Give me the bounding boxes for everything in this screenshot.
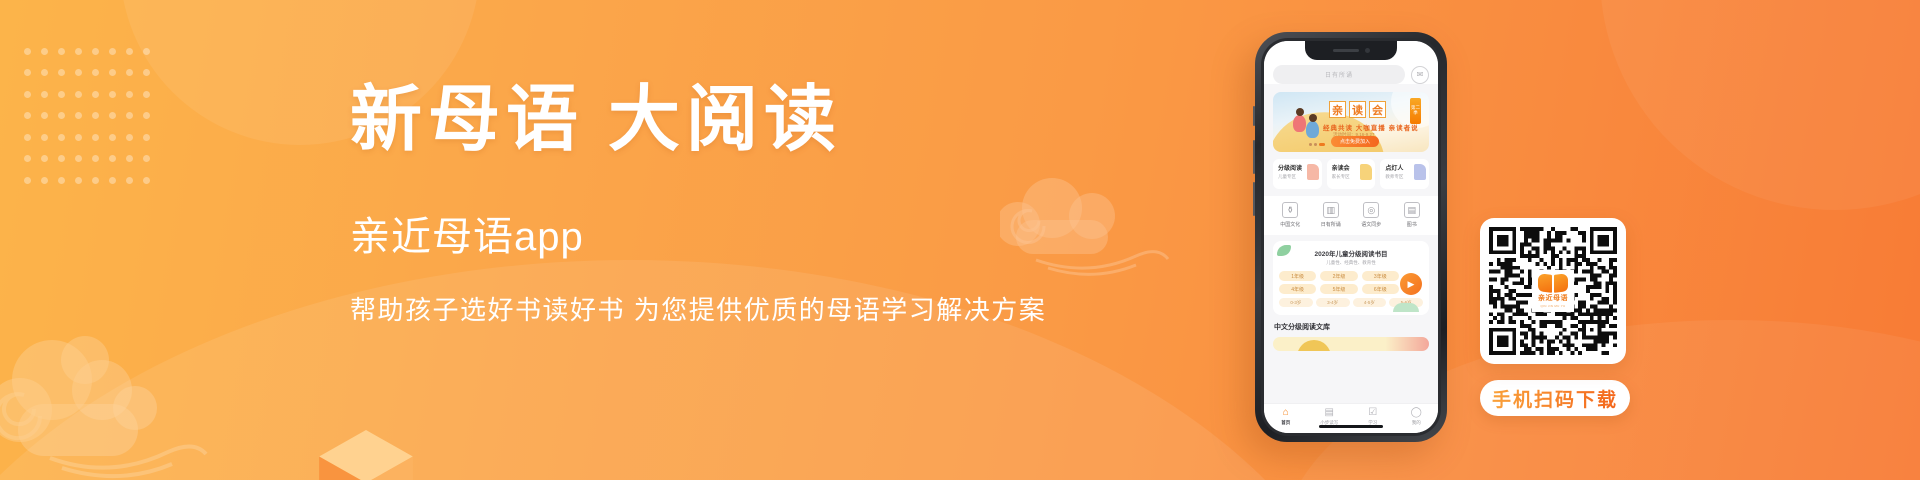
app-category-card[interactable]: 亲读会家长专区 bbox=[1327, 159, 1376, 189]
decor-dot bbox=[75, 155, 82, 162]
play-icon[interactable]: ▶ bbox=[1400, 273, 1422, 295]
decor-cube bbox=[310, 428, 422, 480]
decor-dot bbox=[58, 112, 65, 119]
decor-dot bbox=[126, 69, 133, 76]
phone-screen: 日有所诵 ✉ 亲 读 会 第二季 经典共读 大咖直播 亲读者说 bbox=[1264, 41, 1438, 433]
decor-dot bbox=[24, 155, 31, 162]
decor-dot bbox=[75, 91, 82, 98]
decor-dot bbox=[41, 134, 48, 141]
download-button[interactable]: 手机扫码下载 bbox=[1480, 380, 1630, 416]
decor-dot bbox=[24, 112, 31, 119]
decor-dot bbox=[92, 69, 99, 76]
phone-notch bbox=[1305, 41, 1397, 60]
tagline: 帮助孩子选好书读好书 为您提供优质的母语学习解决方案 bbox=[350, 290, 1070, 327]
decor-dot bbox=[126, 48, 133, 55]
promo-banner: 新母语 大阅读 亲近母语app 帮助孩子选好书读好书 为您提供优质的母语学习解决… bbox=[0, 0, 1920, 480]
quick-icon-glyph: ⚱ bbox=[1282, 202, 1298, 218]
decor-dot bbox=[143, 155, 150, 162]
app-tab-item[interactable]: ◯我的 bbox=[1396, 408, 1436, 426]
download-button-label: 手机扫码下载 bbox=[1492, 385, 1618, 412]
decor-dot bbox=[75, 112, 82, 119]
banner-ribbon: 第二季 bbox=[1410, 98, 1421, 124]
decor-dot bbox=[92, 177, 99, 184]
decor-dot bbox=[109, 91, 116, 98]
phone-speaker bbox=[1333, 49, 1359, 52]
decor-dot bbox=[126, 177, 133, 184]
decor-dot-grid bbox=[24, 48, 160, 198]
decor-dot bbox=[24, 48, 31, 55]
app-library-card[interactable] bbox=[1273, 337, 1429, 351]
decor-dot bbox=[58, 91, 65, 98]
tab-icon: ☑ bbox=[1368, 408, 1377, 418]
app-booklist-card[interactable]: 2020年儿童分级阅读书目 儿童性、经典性、教育性 1年级2年级3年级4年级5年… bbox=[1273, 241, 1429, 315]
banner-title: 亲 读 会 bbox=[1329, 101, 1386, 118]
banner-carousel-dots[interactable] bbox=[1309, 143, 1325, 146]
carousel-dot[interactable] bbox=[1314, 143, 1317, 146]
decor-dot bbox=[92, 48, 99, 55]
grade-chip[interactable]: 5年级 bbox=[1320, 284, 1357, 294]
banner-child-blue bbox=[1306, 121, 1319, 138]
decor-dot bbox=[41, 155, 48, 162]
quick-icon-glyph: ▥ bbox=[1323, 202, 1339, 218]
grade-chip[interactable]: 1年级 bbox=[1279, 271, 1316, 281]
page-title: 新母语 大阅读 bbox=[350, 84, 1070, 156]
age-chip[interactable]: 3-4岁 bbox=[1316, 298, 1350, 307]
quick-icon-glyph: ◎ bbox=[1363, 202, 1379, 218]
quick-icon-glyph: ▤ bbox=[1404, 202, 1420, 218]
decor-dot bbox=[109, 177, 116, 184]
decor-dot bbox=[109, 69, 116, 76]
phone-mute-button bbox=[1253, 106, 1255, 126]
decor-dot bbox=[143, 112, 150, 119]
decor-dot bbox=[143, 69, 150, 76]
phone-volume-down-button bbox=[1253, 182, 1255, 216]
age-chip[interactable]: 4-5岁 bbox=[1353, 298, 1387, 307]
decor-dot bbox=[109, 134, 116, 141]
quick-icon-label: 图书 bbox=[1407, 221, 1417, 228]
banner-child-red bbox=[1293, 115, 1306, 132]
phone-bezel: 日有所诵 ✉ 亲 读 会 第二季 经典共读 大咖直播 亲读者说 bbox=[1261, 38, 1441, 436]
message-icon[interactable]: ✉ bbox=[1411, 66, 1429, 84]
quick-icon-label: 语文同步 bbox=[1361, 221, 1381, 228]
quick-icon-label: 日有所诵 bbox=[1321, 221, 1341, 228]
app-tab-bar: ⌂首页▤小步读写☑学习◯我的 bbox=[1264, 403, 1438, 433]
decor-dot bbox=[75, 134, 82, 141]
carousel-dot-active[interactable] bbox=[1319, 143, 1325, 146]
decor-cloud-left bbox=[0, 318, 220, 480]
decor-dot bbox=[75, 48, 82, 55]
banner-join-button[interactable]: 点击免费加入 bbox=[1331, 136, 1379, 147]
decor-circle-top-right bbox=[1600, 0, 1920, 210]
decor-dot bbox=[24, 134, 31, 141]
banner-title-char: 会 bbox=[1369, 101, 1386, 118]
decor-dot bbox=[58, 177, 65, 184]
decor-dot bbox=[24, 91, 31, 98]
qr-code: 亲近母语 QIN JIN MU YU bbox=[1480, 218, 1626, 364]
decor-dot bbox=[143, 134, 150, 141]
app-category-cards: 分级阅读儿童专区亲读会家长专区点灯人教师专区 bbox=[1273, 159, 1429, 189]
booklist-subtitle: 儿童性、经典性、教育性 bbox=[1279, 260, 1423, 266]
tab-label: 首页 bbox=[1281, 420, 1290, 426]
app-quick-icon[interactable]: ⚱中国文化 bbox=[1270, 202, 1310, 228]
app-quick-icon[interactable]: ▤图书 bbox=[1392, 202, 1432, 228]
decor-dot bbox=[58, 155, 65, 162]
tab-icon: ◯ bbox=[1411, 408, 1422, 418]
app-quick-icons: ⚱中国文化▥日有所诵◎语文同步▤图书 bbox=[1264, 196, 1438, 235]
decor-dot bbox=[143, 48, 150, 55]
app-tab-item[interactable]: ▤小步读写 bbox=[1309, 408, 1349, 426]
booklist-title: 2020年儿童分级阅读书目 bbox=[1279, 248, 1423, 258]
phone-camera bbox=[1365, 48, 1370, 53]
phone-home-indicator bbox=[1319, 425, 1383, 428]
grade-chip[interactable]: 6年级 bbox=[1362, 284, 1399, 294]
decor-dot bbox=[143, 91, 150, 98]
decor-dot bbox=[41, 69, 48, 76]
qr-block: 亲近母语 QIN JIN MU YU 手机扫码下载 bbox=[1480, 218, 1630, 416]
decor-dot bbox=[92, 91, 99, 98]
decor-dot bbox=[92, 134, 99, 141]
decor-dot bbox=[41, 91, 48, 98]
decor-dot bbox=[24, 177, 31, 184]
decor-dot bbox=[126, 91, 133, 98]
decor-dot bbox=[92, 155, 99, 162]
banner-title-char: 亲 bbox=[1329, 101, 1346, 118]
app-promo-banner[interactable]: 亲 读 会 第二季 经典共读 大咖直播 亲读者说 活动时间：9.16-9.27 … bbox=[1273, 92, 1429, 152]
app-section-title: 中文分级阅读文库 bbox=[1274, 322, 1438, 332]
decor-dot bbox=[41, 112, 48, 119]
qr-center-logo: 亲近母语 QIN JIN MU YU bbox=[1532, 270, 1574, 312]
decor-dot bbox=[41, 177, 48, 184]
book-icon bbox=[1538, 274, 1568, 292]
card-decor-icon bbox=[1307, 164, 1319, 180]
leaf-icon bbox=[1393, 303, 1419, 312]
app-search-input[interactable]: 日有所诵 bbox=[1273, 65, 1405, 84]
decor-dot bbox=[58, 134, 65, 141]
decor-dot bbox=[109, 112, 116, 119]
decor-dot bbox=[75, 69, 82, 76]
card-decor-icon bbox=[1360, 164, 1372, 180]
decor-dot bbox=[58, 48, 65, 55]
tab-label: 我的 bbox=[1412, 420, 1421, 426]
decor-dot bbox=[75, 177, 82, 184]
age-chip[interactable]: 0-3岁 bbox=[1279, 298, 1313, 307]
app-quick-icon[interactable]: ▥日有所诵 bbox=[1311, 202, 1351, 228]
card-decor-icon bbox=[1414, 164, 1426, 180]
brand-name-pinyin: QIN JIN MU YU bbox=[1540, 304, 1565, 308]
decor-dot bbox=[109, 155, 116, 162]
copy-block: 新母语 大阅读 亲近母语app 帮助孩子选好书读好书 为您提供优质的母语学习解决… bbox=[350, 84, 1070, 327]
grade-chip[interactable]: 2年级 bbox=[1320, 271, 1357, 281]
decor-dot bbox=[143, 177, 150, 184]
decor-dot bbox=[41, 48, 48, 55]
app-name: 亲近母语app bbox=[350, 204, 1070, 262]
phone-mockup: 日有所诵 ✉ 亲 读 会 第二季 经典共读 大咖直播 亲读者说 bbox=[1255, 32, 1447, 442]
quick-icon-label: 中国文化 bbox=[1280, 221, 1300, 228]
brand-name: 亲近母语 bbox=[1538, 293, 1568, 303]
app-category-card[interactable]: 点灯人教师专区 bbox=[1380, 159, 1429, 189]
app-category-card[interactable]: 分级阅读儿童专区 bbox=[1273, 159, 1322, 189]
decor-dot bbox=[58, 69, 65, 76]
banner-subtitle: 经典共读 大咖直播 亲读者说 bbox=[1323, 122, 1419, 132]
decor-dot bbox=[126, 155, 133, 162]
app-tab-active[interactable]: ⌂首页 bbox=[1266, 408, 1306, 426]
phone-volume-up-button bbox=[1253, 140, 1255, 174]
grade-chip[interactable]: 3年级 bbox=[1362, 271, 1399, 281]
tab-icon: ▤ bbox=[1325, 408, 1334, 418]
decor-dot bbox=[126, 112, 133, 119]
decor-dot bbox=[109, 48, 116, 55]
app-quick-icon[interactable]: ◎语文同步 bbox=[1351, 202, 1391, 228]
decor-dot bbox=[126, 134, 133, 141]
decor-dot bbox=[24, 69, 31, 76]
tab-icon: ⌂ bbox=[1283, 408, 1289, 418]
app-search-row: 日有所诵 ✉ bbox=[1273, 65, 1429, 84]
carousel-dot[interactable] bbox=[1309, 143, 1312, 146]
library-arc-shape bbox=[1297, 340, 1331, 351]
decor-dot bbox=[92, 112, 99, 119]
grade-chip[interactable]: 4年级 bbox=[1279, 284, 1316, 294]
banner-title-char: 读 bbox=[1349, 101, 1366, 118]
app-tab-item[interactable]: ☑学习 bbox=[1353, 408, 1393, 426]
